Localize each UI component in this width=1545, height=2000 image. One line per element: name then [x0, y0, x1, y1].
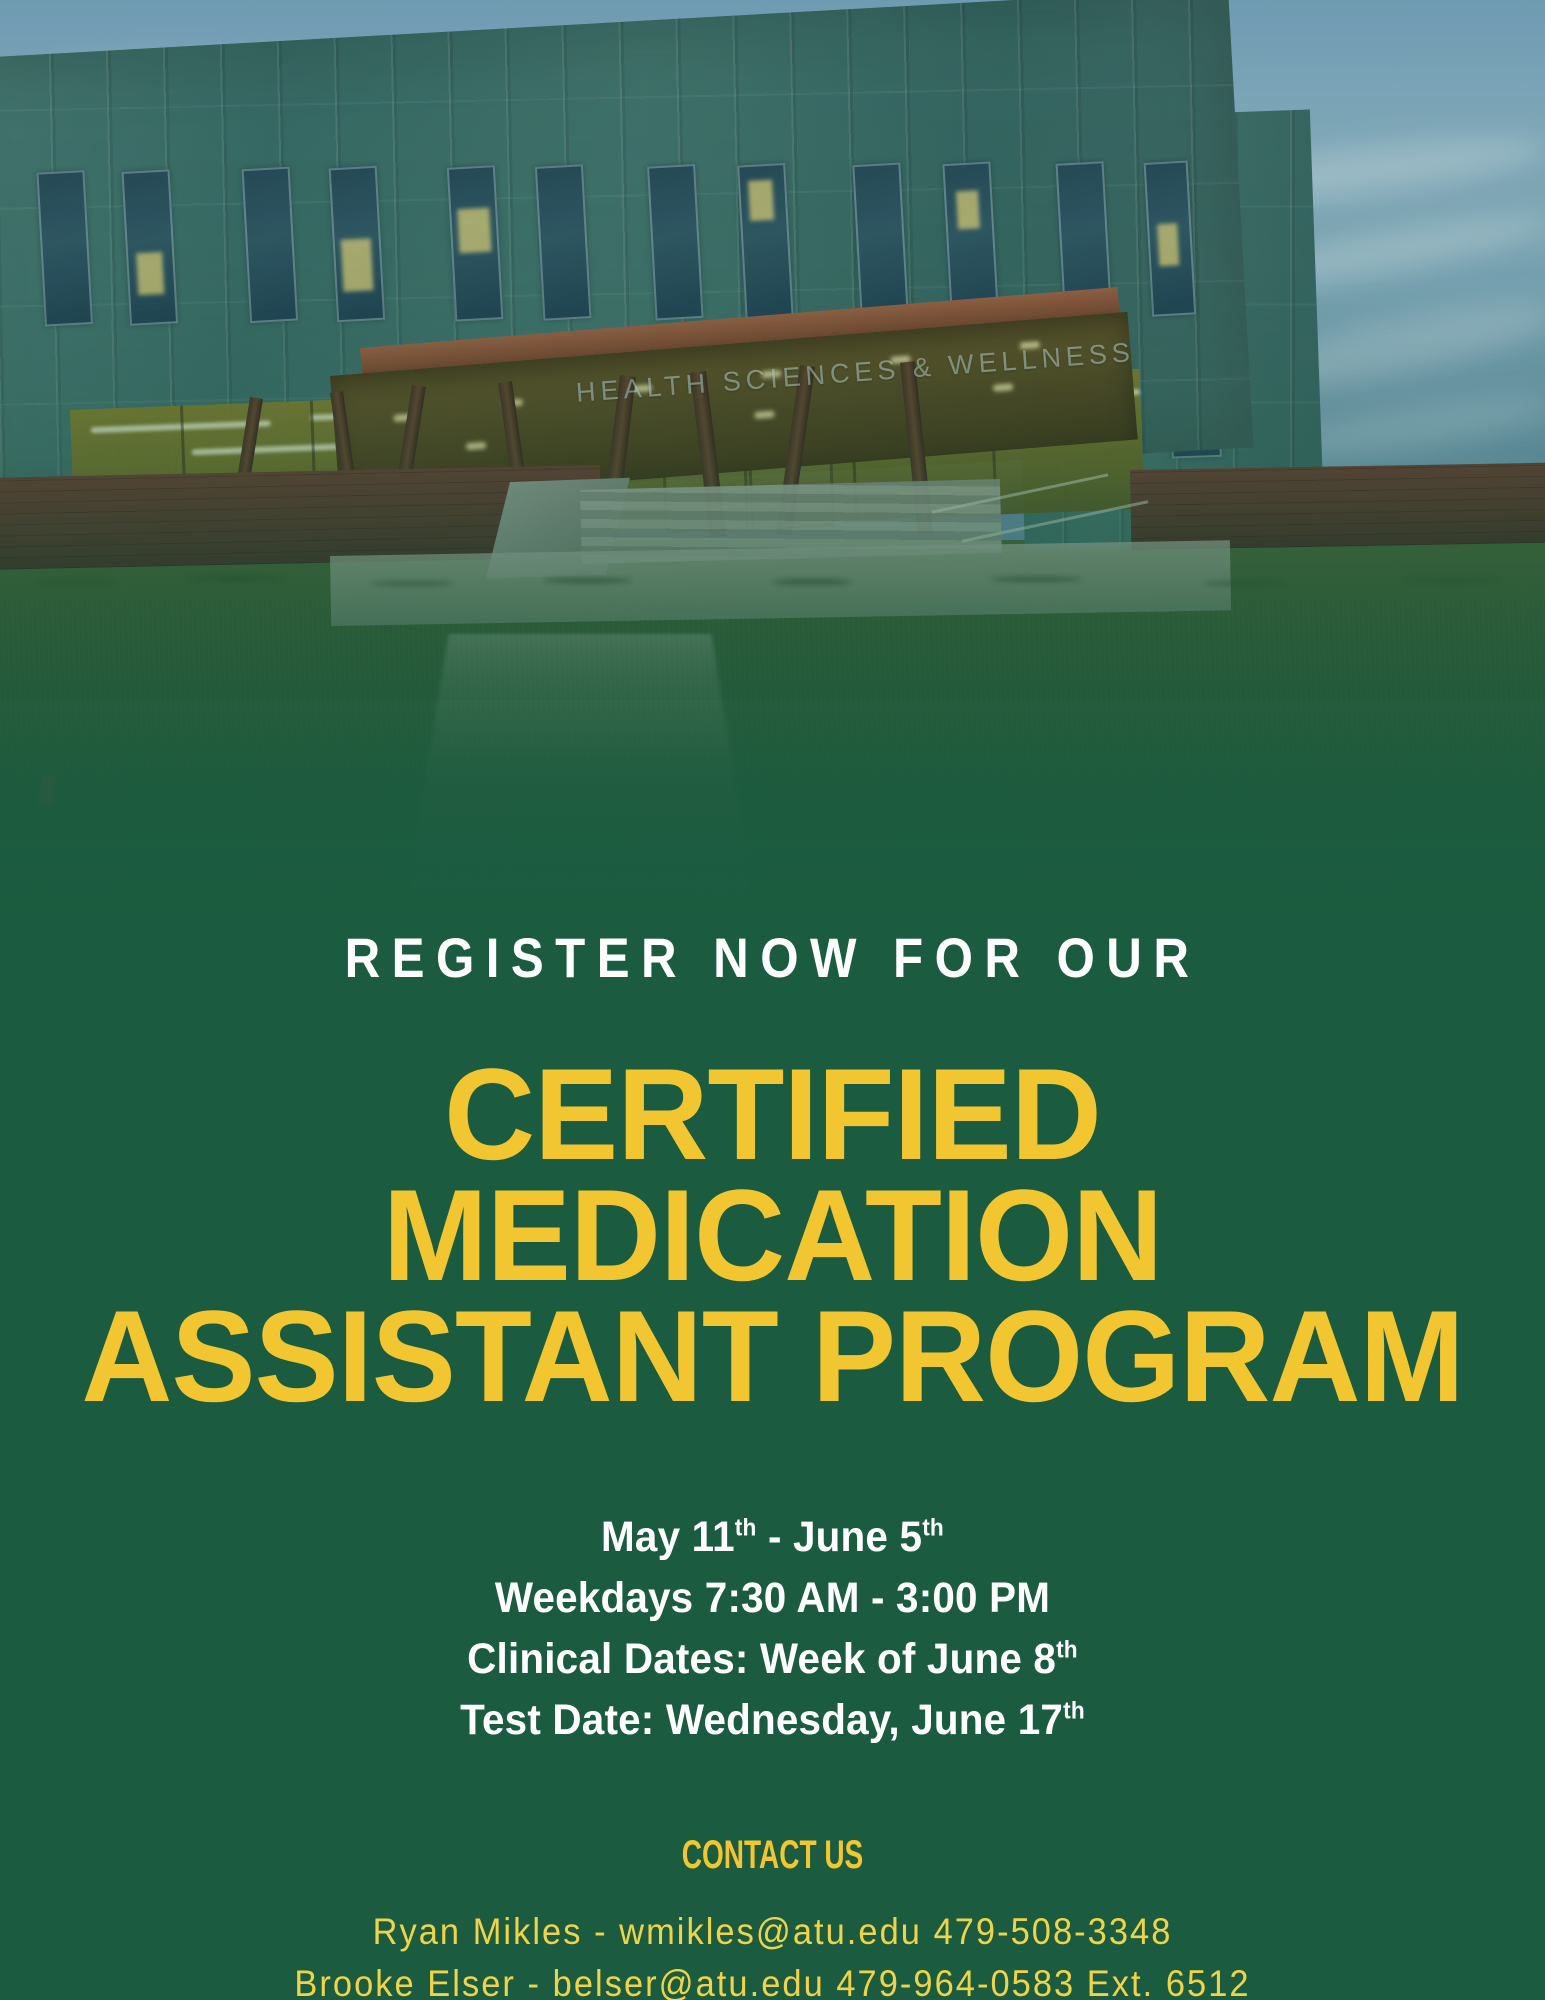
kicker-text: REGISTER NOW FOR OUR [93, 930, 1453, 986]
detail-clinical-text: Clinical Dates: Week of June 8 [467, 1635, 1056, 1683]
detail-line-dates: May 11th - June 5th [46, 1507, 1498, 1568]
detail-line-clinical: Clinical Dates: Week of June 8th [46, 1629, 1498, 1690]
photo-green-fade-overlay [0, 0, 1545, 1000]
contact-details: Ryan Mikles - wmikles@atu.edu 479-508-33… [54, 1906, 1491, 2000]
ordinal-suffix: th [735, 1514, 757, 1541]
program-details: May 11th - June 5th Weekdays 7:30 AM - 3… [46, 1507, 1498, 1751]
ordinal-suffix: th [1063, 1697, 1085, 1724]
detail-date-sep: - June 5 [757, 1513, 923, 1561]
ordinal-suffix: th [922, 1514, 944, 1541]
building-photo: HEALTH SCIENCES & WELLNESS [0, 0, 1545, 1000]
contact-person-2[interactable]: Brooke Elser - belser@atu.edu 479-964-05… [54, 1958, 1491, 2000]
flyer-poster: HEALTH SCIENCES & WELLNESS REGISTER NOW … [0, 0, 1545, 2000]
headline-line-2: ASSISTANT PROGRAM [43, 1296, 1503, 1417]
ordinal-suffix: th [1056, 1636, 1078, 1663]
contact-person-1[interactable]: Ryan Mikles - wmikles@atu.edu 479-508-33… [54, 1906, 1491, 1959]
headline: CERTIFIED MEDICATION ASSISTANT PROGRAM [23, 1054, 1522, 1417]
headline-line-1: CERTIFIED MEDICATION [43, 1054, 1503, 1296]
contact-heading: CONTACT US [232, 1833, 1314, 1878]
detail-line-hours: Weekdays 7:30 AM - 3:00 PM [46, 1568, 1498, 1629]
detail-line-test: Test Date: Wednesday, June 17th [46, 1690, 1498, 1751]
detail-date-start: May 11 [601, 1513, 735, 1561]
poster-content: REGISTER NOW FOR OUR CERTIFIED MEDICATIO… [0, 930, 1545, 2000]
detail-test-text: Test Date: Wednesday, June 17 [460, 1696, 1063, 1744]
